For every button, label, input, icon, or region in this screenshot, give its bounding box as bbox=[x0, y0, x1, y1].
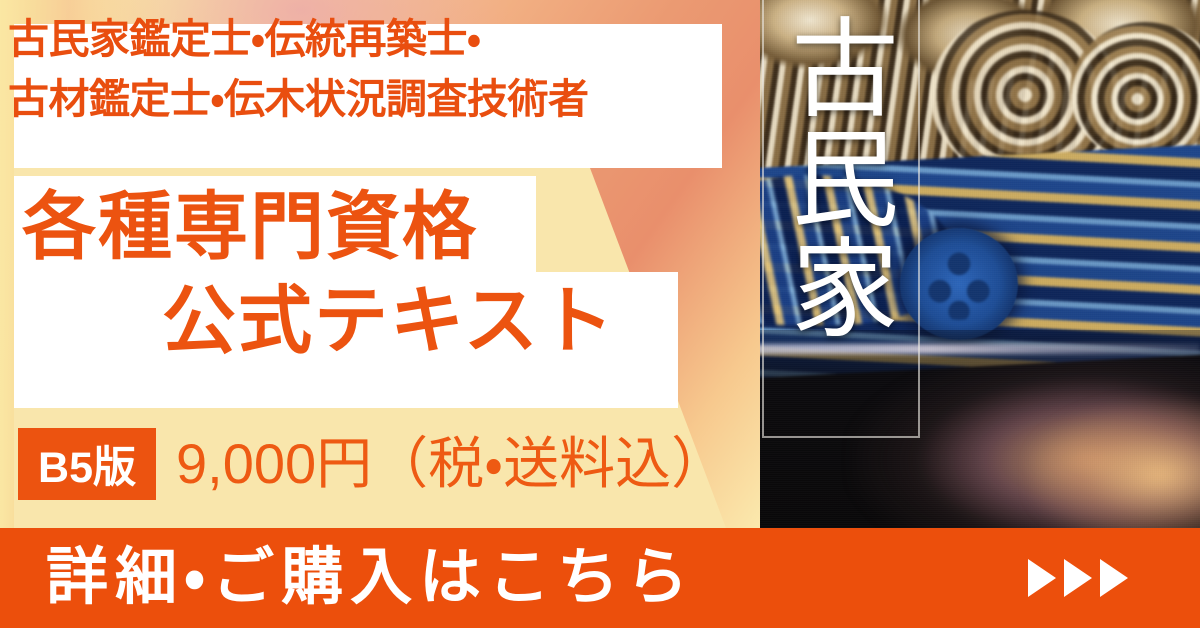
headline-line-2: 公式テキスト bbox=[162, 284, 616, 358]
certifications-text: 古民家鑑定士・伝統再築士・ 古材鑑定士・伝木状況調査技術者 bbox=[8, 10, 708, 130]
triangle-right-icon bbox=[1100, 559, 1128, 597]
triangle-right-icon bbox=[1064, 559, 1092, 597]
cta-arrow-group bbox=[1028, 559, 1128, 597]
cta-bar[interactable]: 詳細・ご購入はこちら bbox=[0, 528, 1200, 628]
book-cover-title: 古民家 bbox=[790, 12, 898, 412]
cta-label: 詳細・ご購入はこちら bbox=[46, 547, 695, 609]
book-size-badge: B5版 bbox=[18, 428, 156, 500]
triangle-right-icon bbox=[1028, 559, 1056, 597]
headline-line-1: 各種専門資格 bbox=[22, 190, 478, 264]
promo-banner: 古民家 伝統構法 古民家活用のための調査と再生の 古民家鑑定士・伝統再築士・ 古… bbox=[0, 0, 1200, 628]
price-text: 9,000円（税・送料込） bbox=[176, 432, 727, 496]
